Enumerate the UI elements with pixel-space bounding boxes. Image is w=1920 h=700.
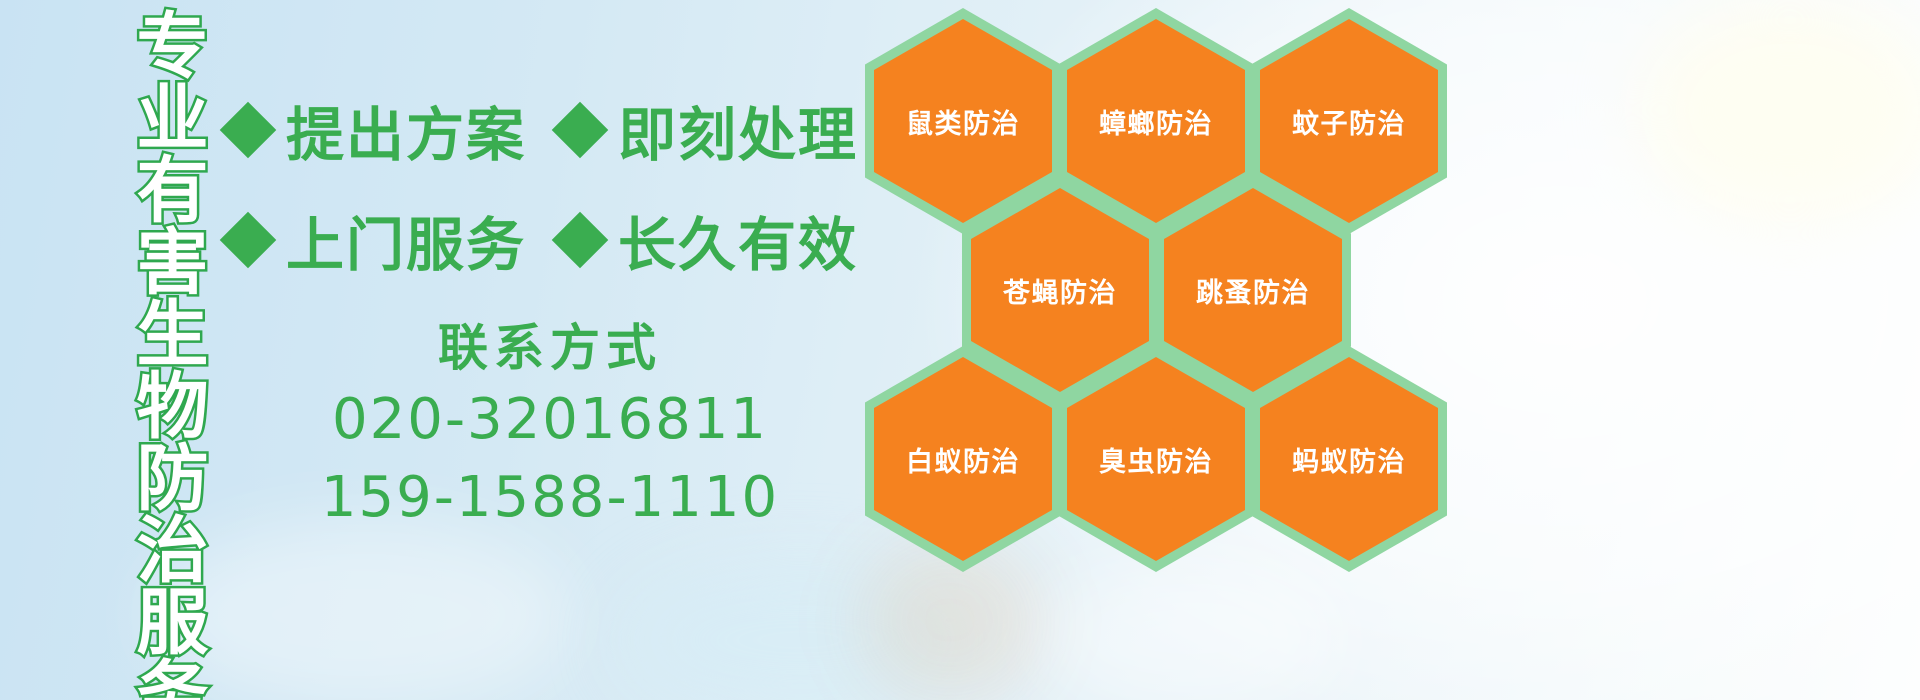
service-hexagon-label: 苍蝇防治	[1003, 271, 1117, 310]
phone-number-mobile[interactable]: 159-1588-1110	[230, 462, 870, 535]
diamond-icon	[220, 212, 277, 269]
feature-row-2: 上门服务 长久有效	[228, 198, 858, 282]
background-glow	[1640, 0, 1920, 220]
service-hexagon-fill: 苍蝇防治	[971, 188, 1149, 392]
feature-label-propose-plan: 提出方案	[286, 88, 526, 172]
service-hexagon-fill: 蟑螂防治	[1067, 19, 1245, 223]
diamond-icon	[552, 212, 609, 269]
service-hexagon-fill: 白蚁防治	[874, 357, 1052, 561]
feature-label-long-lasting: 长久有效	[618, 198, 858, 282]
diamond-icon	[220, 102, 277, 159]
service-hexagon-label: 蟑螂防治	[1099, 102, 1213, 141]
contact-label: 联系方式	[230, 320, 870, 378]
service-hexagon-label: 鼠类防治	[906, 102, 1020, 141]
phone-number-landline[interactable]: 020-32016811	[230, 384, 870, 457]
service-hexagon-label: 蚊子防治	[1292, 102, 1406, 141]
service-hexagon-fill: 臭虫防治	[1067, 357, 1245, 561]
service-hexagon-label: 跳蚤防治	[1196, 271, 1310, 310]
service-hexagon-fill: 蚂蚁防治	[1260, 357, 1438, 561]
service-hexagon-label: 臭虫防治	[1099, 440, 1213, 479]
service-hexagon-label: 白蚁防治	[906, 440, 1020, 479]
diamond-icon	[552, 102, 609, 159]
vertical-headline: 专业有害生物防治服务	[103, 8, 203, 568]
service-hexagon-label: 蚂蚁防治	[1292, 440, 1406, 479]
background-blur-blob	[150, 520, 570, 700]
contact-block: 联系方式 020-32016811 159-1588-1110	[230, 320, 870, 535]
service-hexagon-fill: 蚊子防治	[1260, 19, 1438, 223]
service-hexagon-fill: 跳蚤防治	[1164, 188, 1342, 392]
service-honeycomb: 鼠类防治蟑螂防治蚊子防治苍蝇防治跳蚤防治白蚁防治臭虫防治蚂蚁防治	[855, 0, 1475, 700]
service-hexagon-fill: 鼠类防治	[874, 19, 1052, 223]
feature-row-1: 提出方案 即刻处理	[228, 88, 858, 172]
promo-banner: 专业有害生物防治服务 提出方案 即刻处理 上门服务 长久有效 联系方式 020-…	[0, 0, 1920, 700]
feature-label-onsite-service: 上门服务	[286, 198, 526, 282]
feature-label-immediate-handling: 即刻处理	[618, 88, 858, 172]
